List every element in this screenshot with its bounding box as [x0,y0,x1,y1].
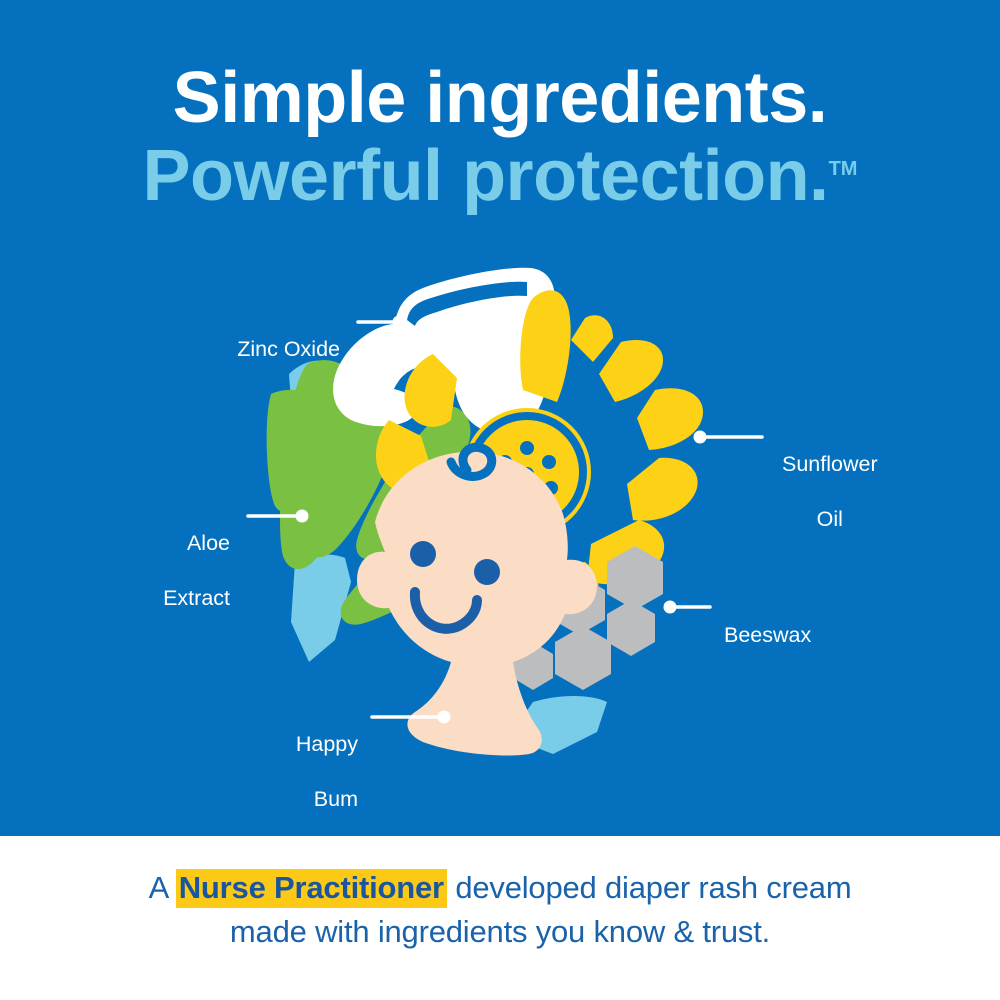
callout-beeswax: Beeswax [724,594,811,649]
headline-block: Simple ingredients. Powerful protection.… [0,62,1000,212]
baby-eye-left [410,541,436,567]
callout-happy-bum-line2: Bum [296,786,358,814]
callout-aloe-extract-line2: Extract [163,585,230,613]
baby-eye-right [474,559,500,585]
headline-line-1: Simple ingredients. [0,62,1000,134]
footer-tagline-line-2: made with ingredients you know & trust. [0,910,1000,954]
callout-zinc-oxide-label: Zinc Oxide [237,337,340,361]
promo-image: Simple ingredients. Powerful protection.… [0,0,1000,1000]
callout-sunflower-oil-line1: Sunflower [782,451,878,479]
footer-tagline-line-1: A Nurse Practitioner developed diaper ra… [0,866,1000,910]
callout-sunflower-oil: Sunflower Oil [782,423,878,561]
callout-happy-bum-line1: Happy [296,731,358,759]
footer-highlight-nurse-practitioner: Nurse Practitioner [176,869,447,908]
callout-beeswax-label: Beeswax [724,623,811,647]
headline-line-2-text: Powerful protection. [143,136,829,216]
callout-aloe-extract: Aloe Extract [163,502,230,640]
callout-sunflower-oil-line2: Oil [782,506,878,534]
trademark-symbol: TM [829,158,858,180]
callout-aloe-extract-line1: Aloe [163,530,230,558]
footer-text-after: developed diaper rash cream [447,870,852,905]
footer-tagline: A Nurse Practitioner developed diaper ra… [0,866,1000,954]
headline-line-2: Powerful protection.TM [0,140,1000,212]
hero-section: Simple ingredients. Powerful protection.… [0,0,1000,836]
footer-text-before: A [149,870,176,905]
footer-section: A Nurse Practitioner developed diaper ra… [0,836,1000,1000]
callout-happy-bum: Happy Bum [296,703,358,836]
callout-zinc-oxide: Zinc Oxide [237,308,340,363]
